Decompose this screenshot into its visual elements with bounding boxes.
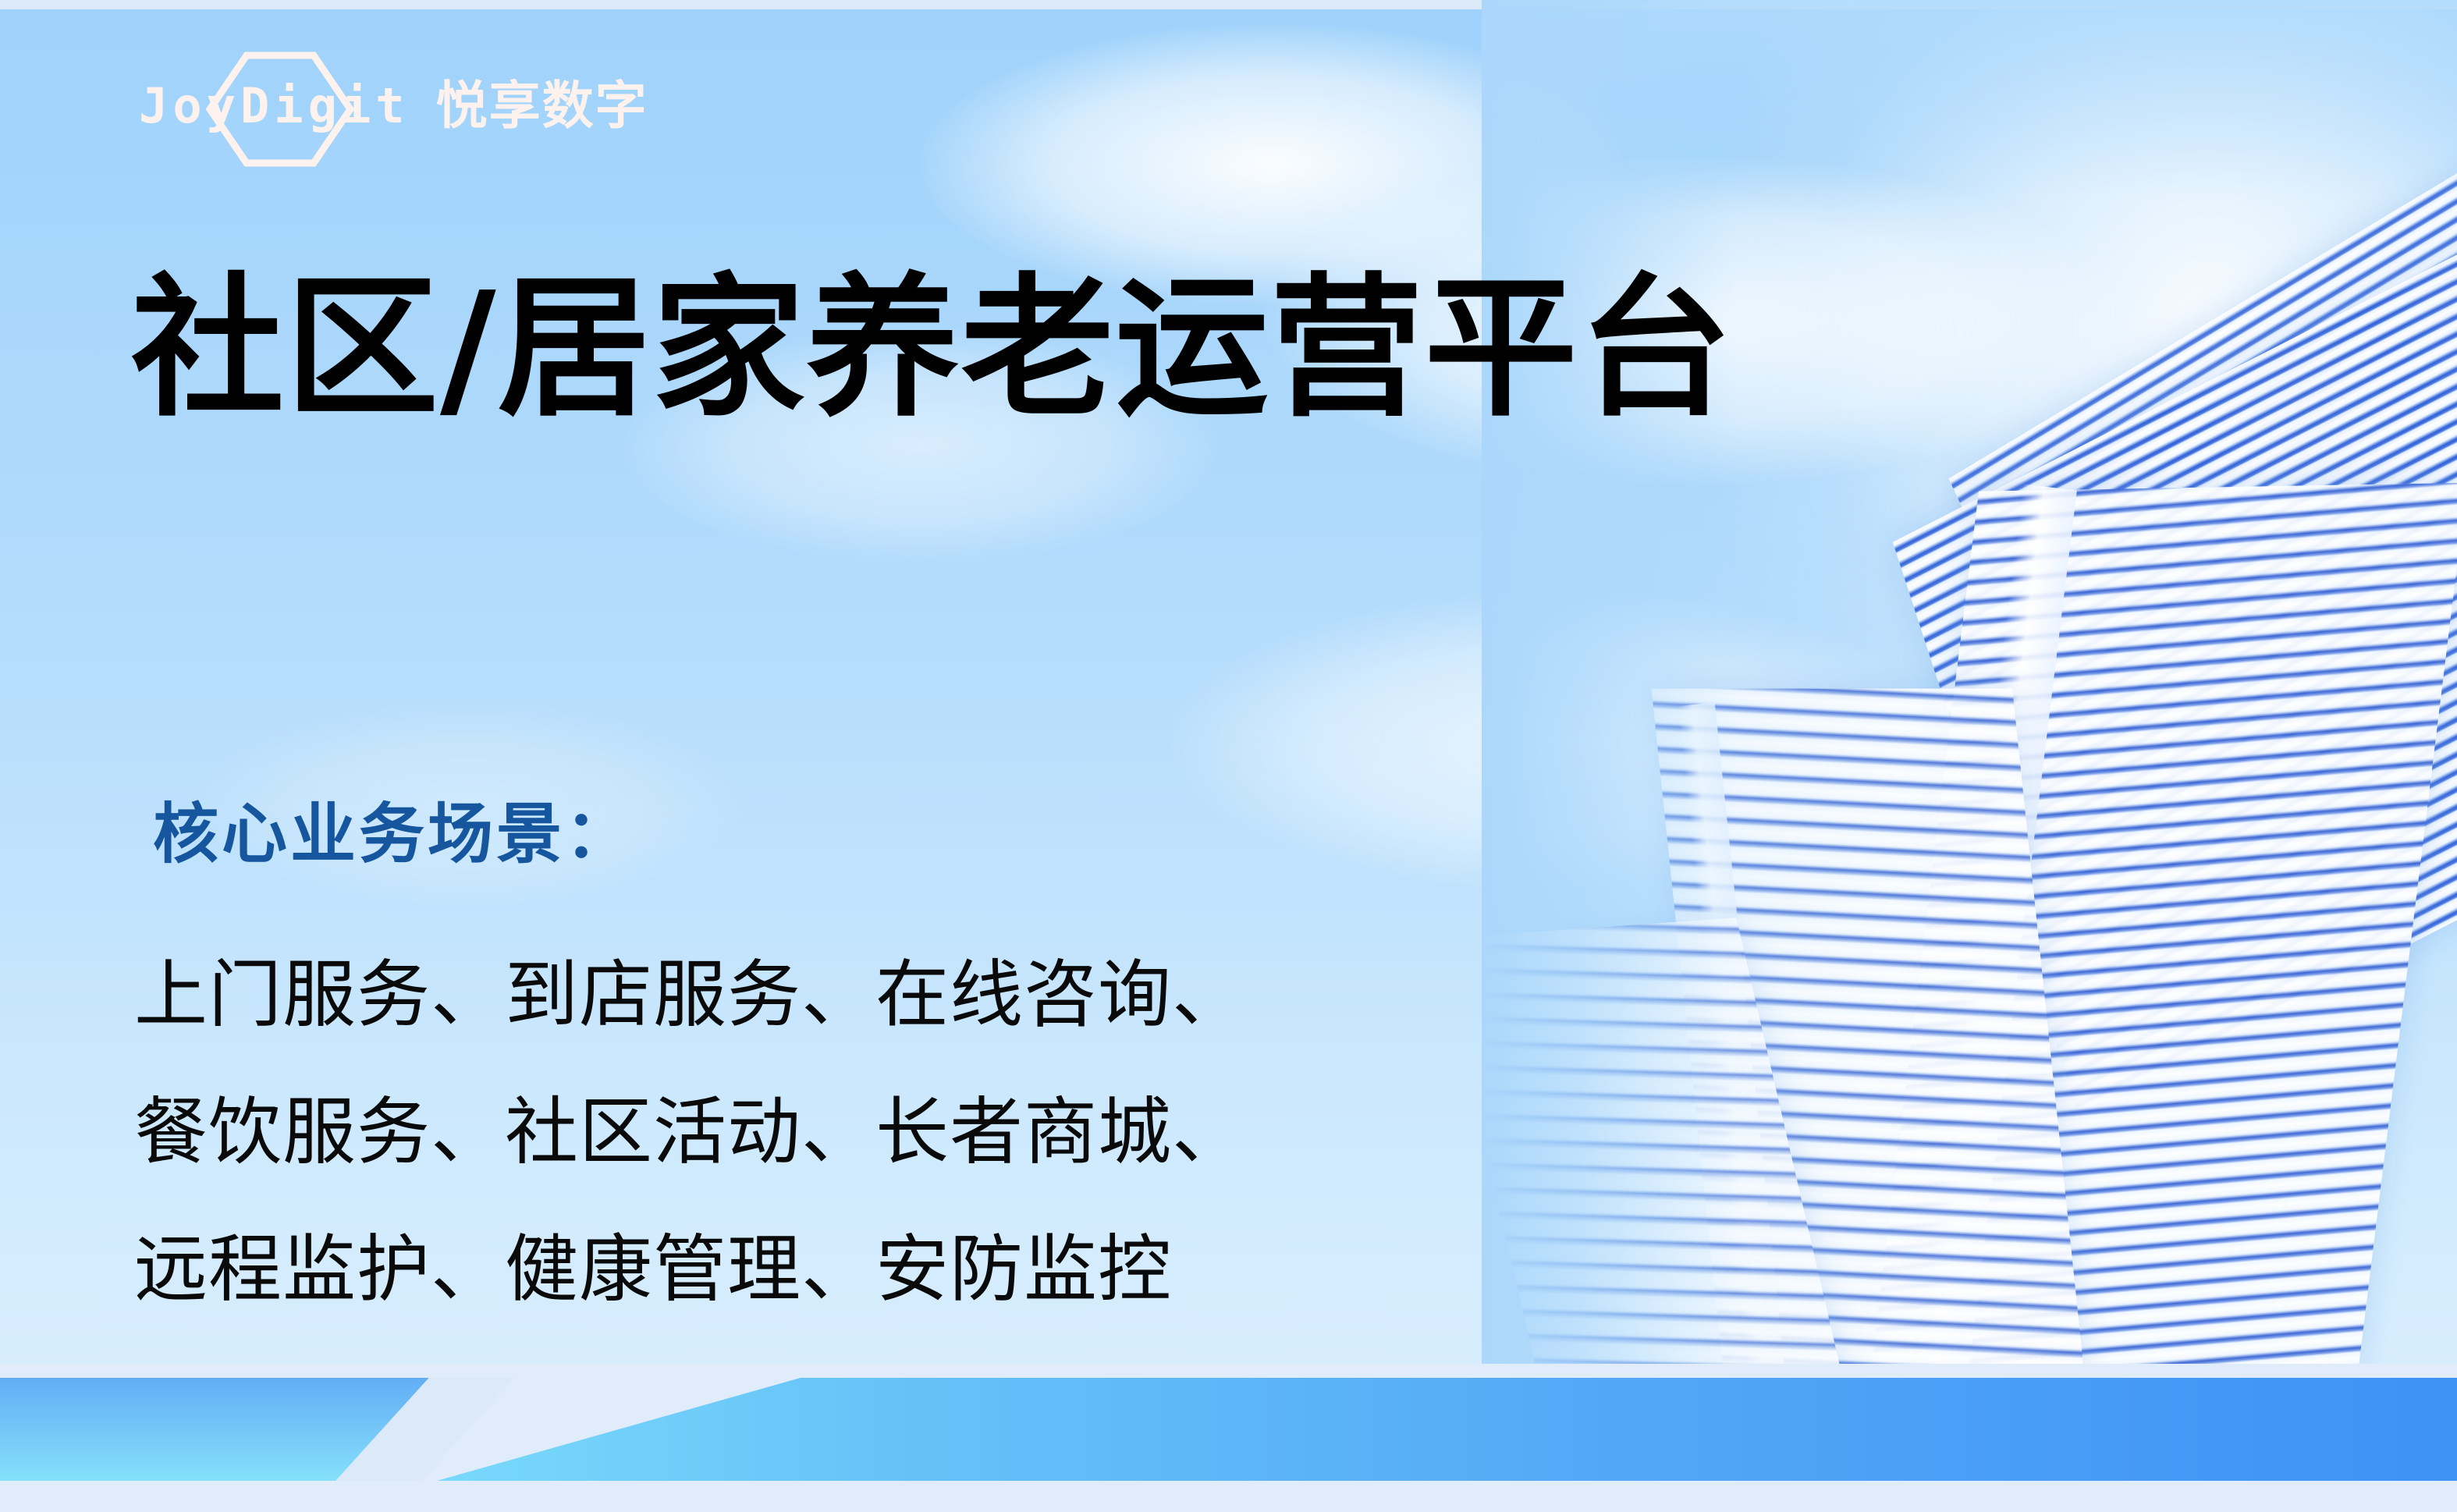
business-scenario-list: 上门服务、到店服务、在线咨询、 餐饮服务、社区活动、长者商城、 远程监护、健康管…: [134, 927, 1246, 1339]
logo-chinese-name: 悦享数字: [436, 80, 648, 132]
skyscraper-photo: [1482, 0, 2457, 1404]
presentation-slide: JoyDigit 悦享数字 社区/居家养老运营平台 核心业务场景： 上门服务、到…: [0, 0, 2457, 1512]
scenario-line: 上门服务、到店服务、在线咨询、: [134, 927, 1246, 1064]
logo-wordmark: JoyDigit: [139, 82, 410, 130]
scenario-line: 远程监护、健康管理、安防监控: [134, 1201, 1246, 1339]
footer-band-group: [0, 1378, 2457, 1481]
page-title: 社区/居家养老运营平台: [131, 259, 1734, 439]
section-heading: 核心业务场景：: [153, 782, 634, 876]
footer-band-right: [437, 1378, 2457, 1481]
footer-banner: [0, 1364, 2457, 1512]
brand-logo: JoyDigit 悦享数字: [139, 69, 648, 144]
scenario-line: 餐饮服务、社区活动、长者商城、: [134, 1064, 1246, 1201]
